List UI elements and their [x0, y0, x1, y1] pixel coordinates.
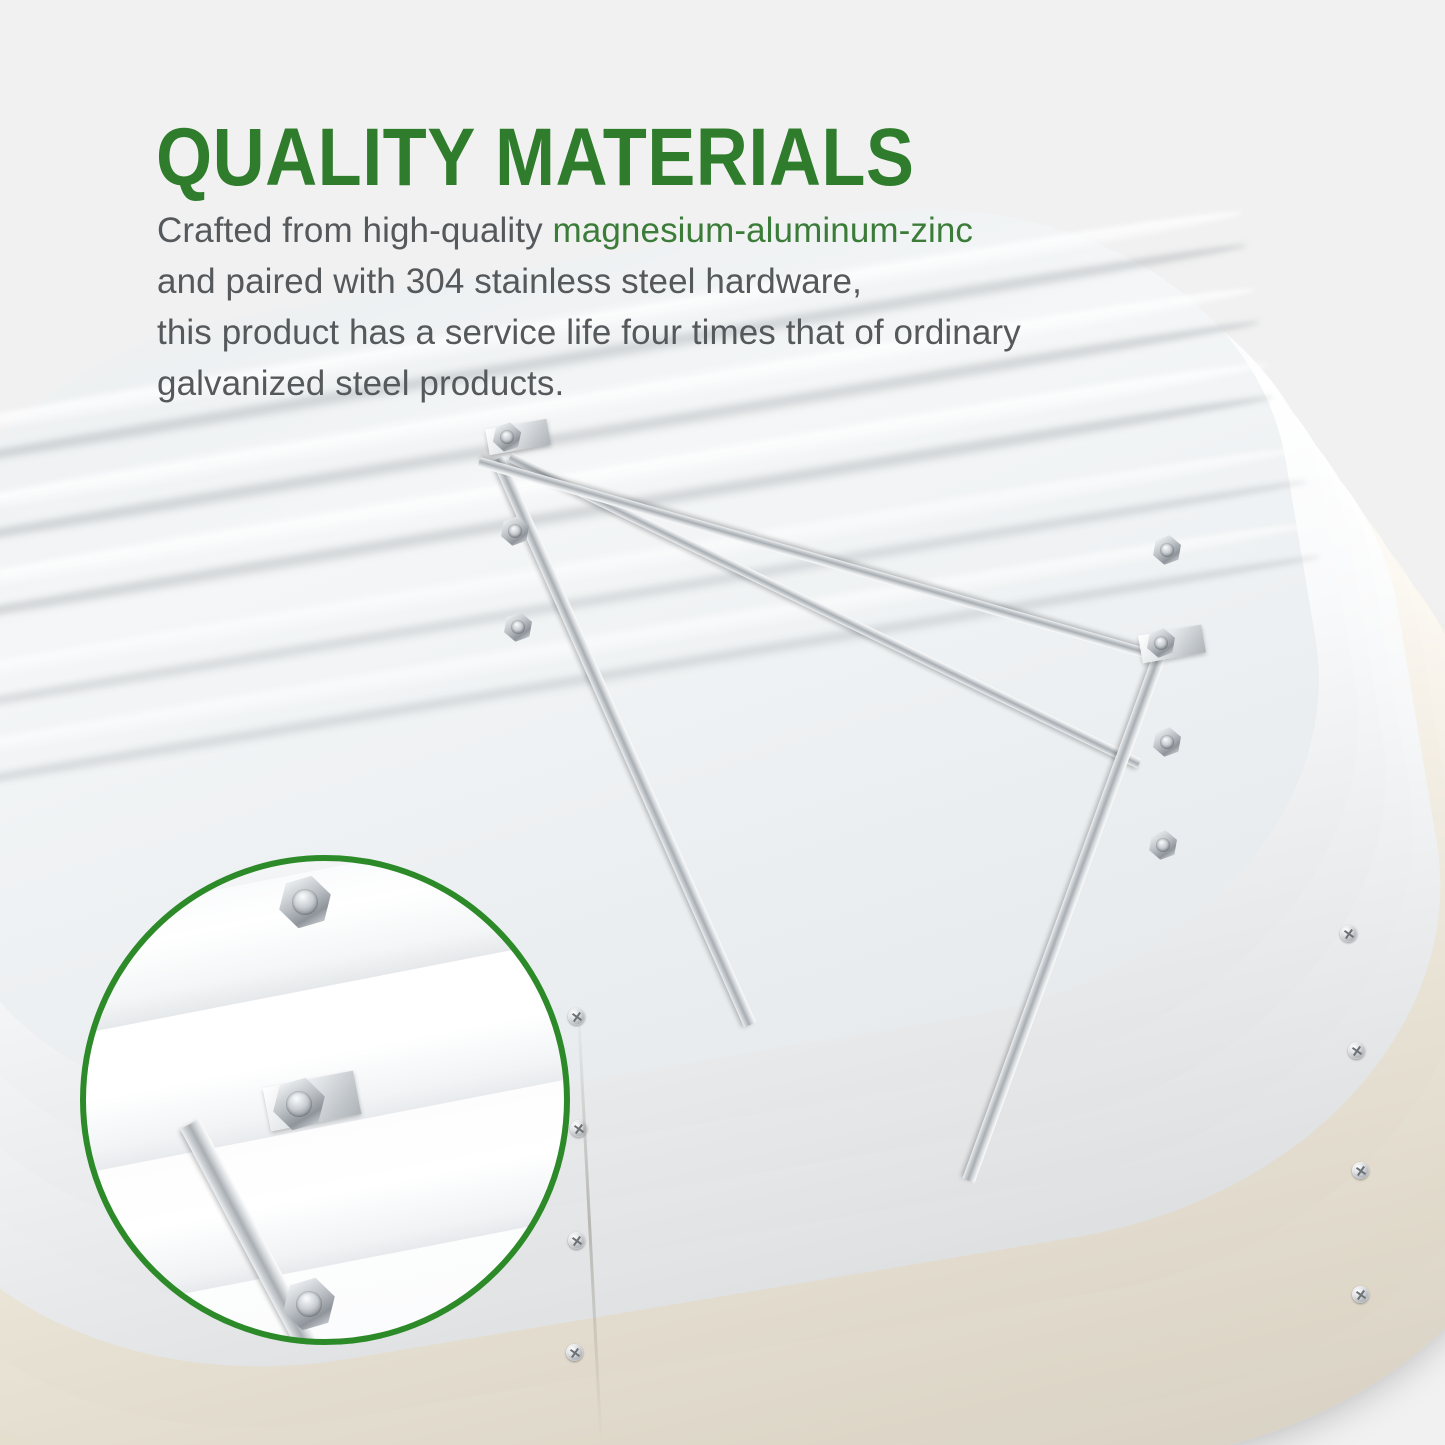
- corner-screw-right-2: [1348, 1042, 1365, 1059]
- corner-screw-right-3: [1352, 1162, 1369, 1179]
- seam-screw-mid-3: [568, 1232, 585, 1249]
- hex-bolt-left-3: [501, 610, 536, 645]
- callout-magnified-view: [80, 855, 570, 1345]
- material-highlight: magnesium-aluminum-zinc: [553, 211, 974, 250]
- description-line-1-prefix: Crafted from high-quality: [157, 211, 553, 250]
- infographic-canvas: QUALITY MATERIALS Crafted from high-qual…: [0, 0, 1445, 1445]
- detail-callout-circle: [80, 855, 570, 1345]
- description-line-1: Crafted from high-quality magnesium-alum…: [157, 205, 1217, 256]
- hex-bolt-left-2: [498, 514, 533, 549]
- hex-bolt-right-2: [1144, 626, 1179, 661]
- hex-bolt-right-4: [1146, 828, 1181, 863]
- corner-screw-right-4: [1352, 1286, 1369, 1303]
- description-line-4: galvanized steel products.: [157, 358, 1217, 409]
- hex-bolt-right-3: [1150, 725, 1185, 760]
- corner-screw-right-1: [1340, 925, 1357, 942]
- description-line-3: this product has a service life four tim…: [157, 307, 1217, 358]
- description-line-2: and paired with 304 stainless steel hard…: [157, 256, 1217, 307]
- page-title: QUALITY MATERIALS: [156, 113, 914, 203]
- seam-screw-mid-4: [566, 1344, 583, 1361]
- hex-bolt-left-1: [489, 419, 525, 455]
- feature-description: Crafted from high-quality magnesium-alum…: [157, 205, 1217, 409]
- hex-bolt-right-1: [1150, 533, 1185, 568]
